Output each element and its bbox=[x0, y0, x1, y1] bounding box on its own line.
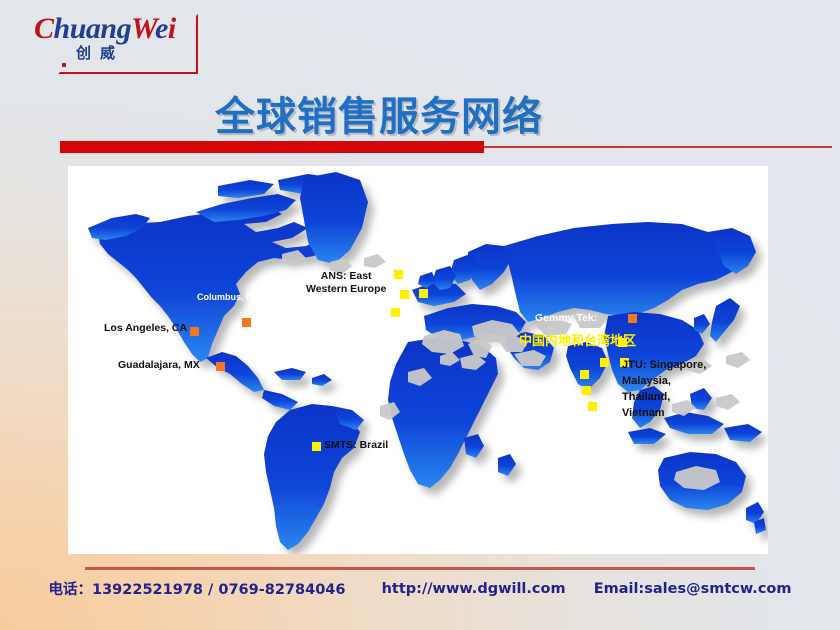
label-ans-line2: Western Europe bbox=[306, 283, 386, 296]
slide-canvas: ChuangWei 创威 全球销售服务网络 bbox=[0, 0, 840, 630]
footer-email[interactable]: Email:sales@smtcw.com bbox=[594, 581, 792, 597]
marker-los-angeles[interactable] bbox=[190, 327, 199, 336]
label-los-angeles: Los Angeles, CA bbox=[104, 322, 187, 335]
logo-chinese-name: 创威 bbox=[76, 42, 124, 63]
marker-brazil[interactable] bbox=[312, 442, 321, 451]
footer-divider bbox=[85, 567, 755, 570]
label-smts: SMTS: Brazil bbox=[324, 439, 388, 452]
title-underline-thick bbox=[60, 141, 484, 153]
company-logo: ChuangWei 创威 bbox=[28, 8, 188, 70]
label-jtu: JTU: Singapore, Malaysia, Thailand, Viet… bbox=[622, 358, 706, 422]
label-columbus: Columbus, OH bbox=[197, 292, 260, 303]
label-jtu-line1: JTU: Singapore, bbox=[622, 358, 706, 374]
marker-china-southwest[interactable] bbox=[582, 386, 591, 395]
footer-contact-bar: 电话：13922521978 / 0769-82784046 http://ww… bbox=[0, 578, 840, 599]
label-guadalajara: Guadalajara, MX bbox=[118, 359, 200, 372]
logo-dot-decoration bbox=[62, 63, 66, 67]
label-ans-line1: ANS: East bbox=[306, 270, 386, 283]
marker-china-central[interactable] bbox=[600, 358, 609, 367]
marker-europe-north[interactable] bbox=[394, 270, 403, 279]
label-jtu-line3: Thailand, bbox=[622, 390, 706, 406]
marker-europe-uk[interactable] bbox=[400, 290, 409, 299]
world-map-panel: Columbus, OH Los Angeles, CA Guadalajara… bbox=[68, 166, 768, 554]
logo-wordmark: ChuangWei bbox=[34, 12, 176, 46]
label-jtu-line4: Vietnam bbox=[622, 406, 706, 422]
marker-europe-southwest[interactable] bbox=[391, 308, 400, 317]
label-china-region: 中国内地和台湾地区 bbox=[519, 334, 636, 350]
label-jtu-line2: Malaysia, bbox=[622, 374, 706, 390]
label-ans: ANS: East Western Europe bbox=[306, 270, 386, 296]
footer-spacer-1 bbox=[351, 581, 377, 597]
marker-columbus[interactable] bbox=[242, 318, 251, 327]
page-title: 全球销售服务网络 bbox=[215, 84, 543, 142]
footer-spacer-2 bbox=[571, 581, 589, 597]
label-gemmy-tek: Gemmy Tek: bbox=[535, 312, 597, 325]
marker-china-south[interactable] bbox=[580, 370, 589, 379]
footer-phone: 电话：13922521978 / 0769-82784046 bbox=[49, 578, 346, 599]
marker-korea[interactable] bbox=[628, 314, 637, 323]
marker-guadalajara[interactable] bbox=[216, 362, 225, 371]
footer-website[interactable]: http://www.dgwill.com bbox=[382, 581, 566, 597]
marker-europe-germany[interactable] bbox=[419, 289, 428, 298]
marker-china-southeast[interactable] bbox=[588, 402, 597, 411]
